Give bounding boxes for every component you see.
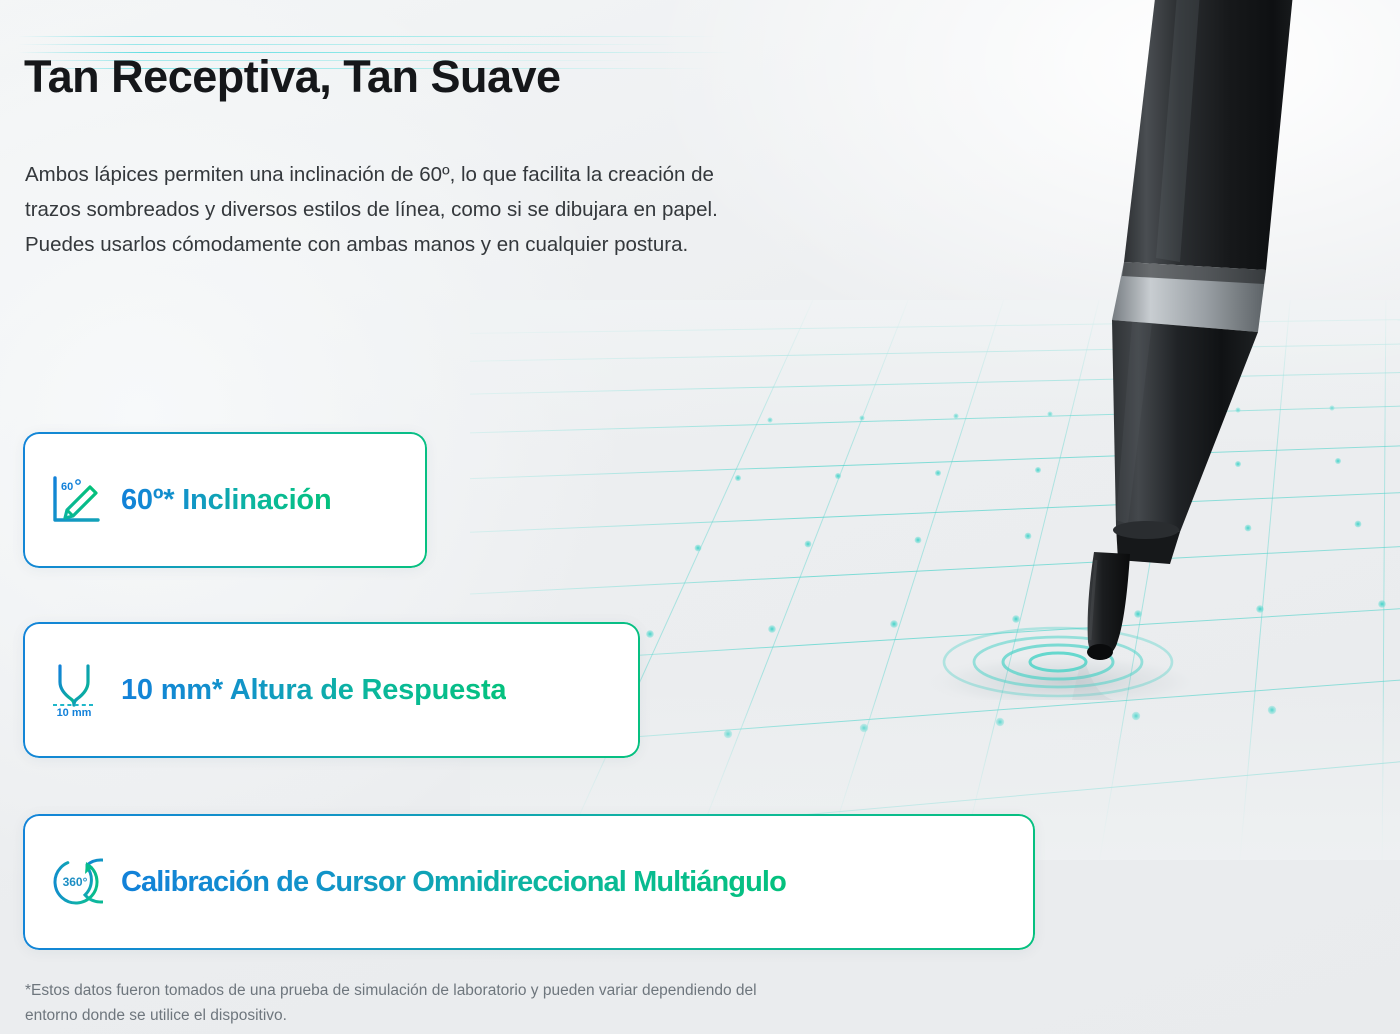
intro-paragraph: Ambos lápices permiten una inclinación d… [25, 157, 767, 262]
rotation-360-icon: 360° [47, 853, 105, 911]
page-title: Tan Receptiva, Tan Suave [24, 48, 561, 106]
feature-label: 60º* Inclinación [121, 484, 331, 517]
feature-card-hover-height[interactable]: 10 mm 10 mm* Altura de Respuesta [23, 622, 640, 758]
disclaimer-footnote: *Estos datos fueron tomados de una prueb… [25, 978, 785, 1028]
svg-text:10 mm: 10 mm [57, 707, 92, 719]
feature-card-cursor-calibration[interactable]: 360° Calibración de Cursor Omnidireccion… [23, 814, 1035, 950]
marketing-hero-section: Tan Receptiva, Tan Suave Ambos lápices p… [0, 0, 1400, 1034]
feature-label: 10 mm* Altura de Respuesta [121, 674, 506, 707]
pen-nib-height-icon: 10 mm [47, 661, 105, 719]
stylus-pen-illustration [880, 0, 1400, 700]
tilt-angle-icon: 60 [47, 471, 105, 529]
svg-text:60: 60 [61, 481, 73, 493]
feature-card-tilt[interactable]: 60 60º* Inclinación [23, 432, 427, 568]
feature-label: Calibración de Cursor Omnidireccional Mu… [121, 866, 786, 899]
svg-text:360°: 360° [63, 875, 88, 889]
